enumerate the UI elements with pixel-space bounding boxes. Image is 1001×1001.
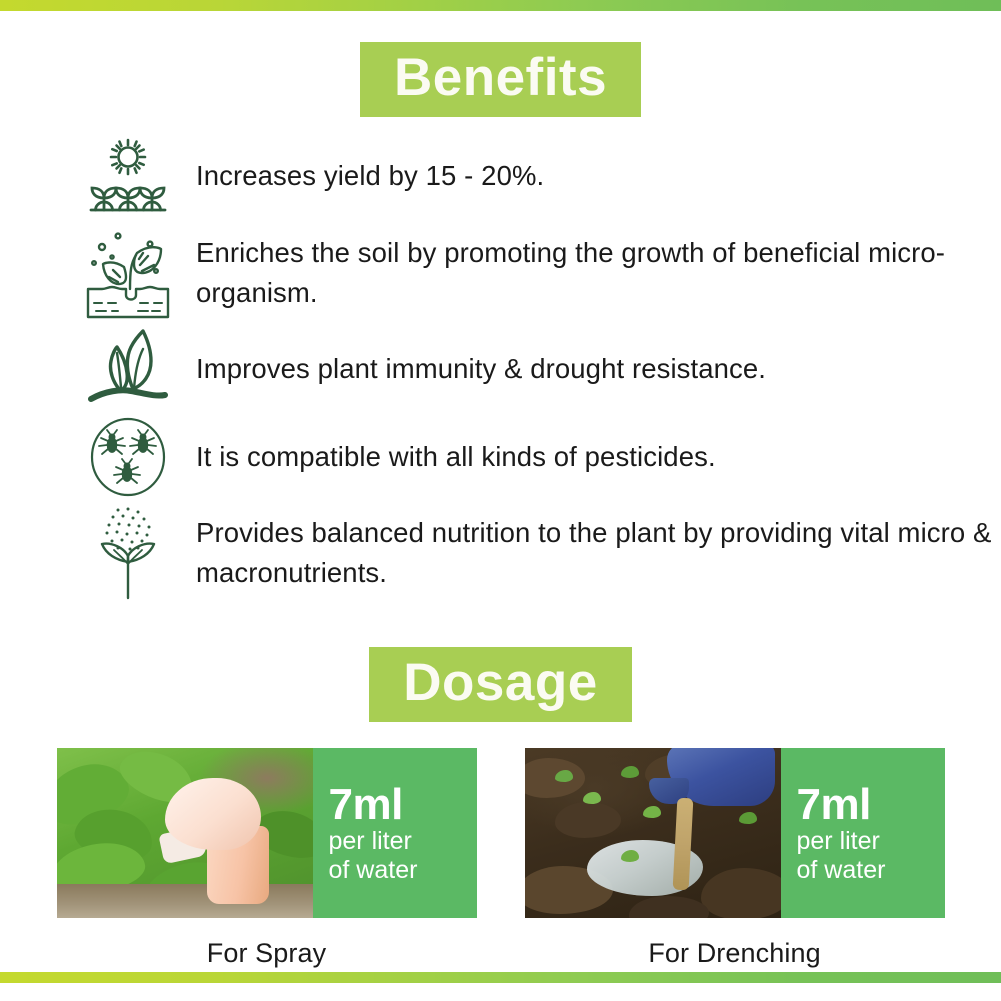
product-infographic: Benefits — [0, 0, 1001, 1001]
dosage-sub-line2: of water — [329, 856, 477, 885]
dosage-cards: 7ml per liter of water For Spray — [0, 748, 1001, 969]
dosage-panel: 7ml per liter of water — [313, 748, 477, 918]
two-leaves-on-ground-icon — [74, 326, 182, 412]
benefit-item-nutrition: Provides balanced nutrition to the plant… — [74, 501, 1001, 605]
top-accent-bar — [0, 0, 1001, 11]
benefit-item-immunity: Improves plant immunity & drought resist… — [74, 325, 1001, 413]
benefit-text: It is compatible with all kinds of pesti… — [182, 437, 716, 477]
watering-can-drenching-soil-photo — [525, 748, 781, 918]
dosage-caption: For Spray — [57, 938, 477, 969]
dosage-card-drenching: 7ml per liter of water For Drenching — [525, 748, 945, 969]
benefit-text: Increases yield by 15 - 20%. — [182, 156, 544, 196]
dosage-caption: For Drenching — [525, 938, 945, 969]
plant-in-soil-microorganism-icon — [74, 230, 182, 316]
dosage-heading: Dosage — [369, 647, 631, 722]
dosage-card: 7ml per liter of water — [57, 748, 477, 918]
dosage-amount: 7ml — [797, 783, 945, 827]
infographic-content: Benefits — [0, 11, 1001, 1001]
dosage-heading-row: Dosage — [0, 647, 1001, 722]
hand-spraying-plants-photo — [57, 748, 313, 918]
benefits-list: Increases yield by 15 - 20%. — [0, 133, 1001, 605]
dosage-panel: 7ml per liter of water — [781, 748, 945, 918]
dosage-amount: 7ml — [329, 783, 477, 827]
sun-over-seedlings-icon — [74, 133, 182, 219]
benefit-item-yield: Increases yield by 15 - 20%. — [74, 133, 1001, 219]
benefit-text: Provides balanced nutrition to the plant… — [182, 513, 1001, 594]
insects-in-circle-icon — [74, 414, 182, 500]
benefit-text: Enriches the soil by promoting the growt… — [182, 233, 1001, 314]
dosage-card-spray: 7ml per liter of water For Spray — [57, 748, 477, 969]
bottom-accent-bar — [0, 972, 1001, 983]
dosage-sub-line1: per liter — [797, 827, 945, 856]
benefit-item-soil: Enriches the soil by promoting the growt… — [74, 221, 1001, 325]
benefits-heading: Benefits — [360, 42, 641, 117]
dosage-sub-line2: of water — [797, 856, 945, 885]
benefits-heading-row: Benefits — [0, 42, 1001, 117]
sprout-with-nutrient-dots-icon — [74, 510, 182, 596]
benefit-text: Improves plant immunity & drought resist… — [182, 349, 766, 389]
dosage-sub-line1: per liter — [329, 827, 477, 856]
dosage-card: 7ml per liter of water — [525, 748, 945, 918]
benefit-item-pesticide: It is compatible with all kinds of pesti… — [74, 413, 1001, 501]
